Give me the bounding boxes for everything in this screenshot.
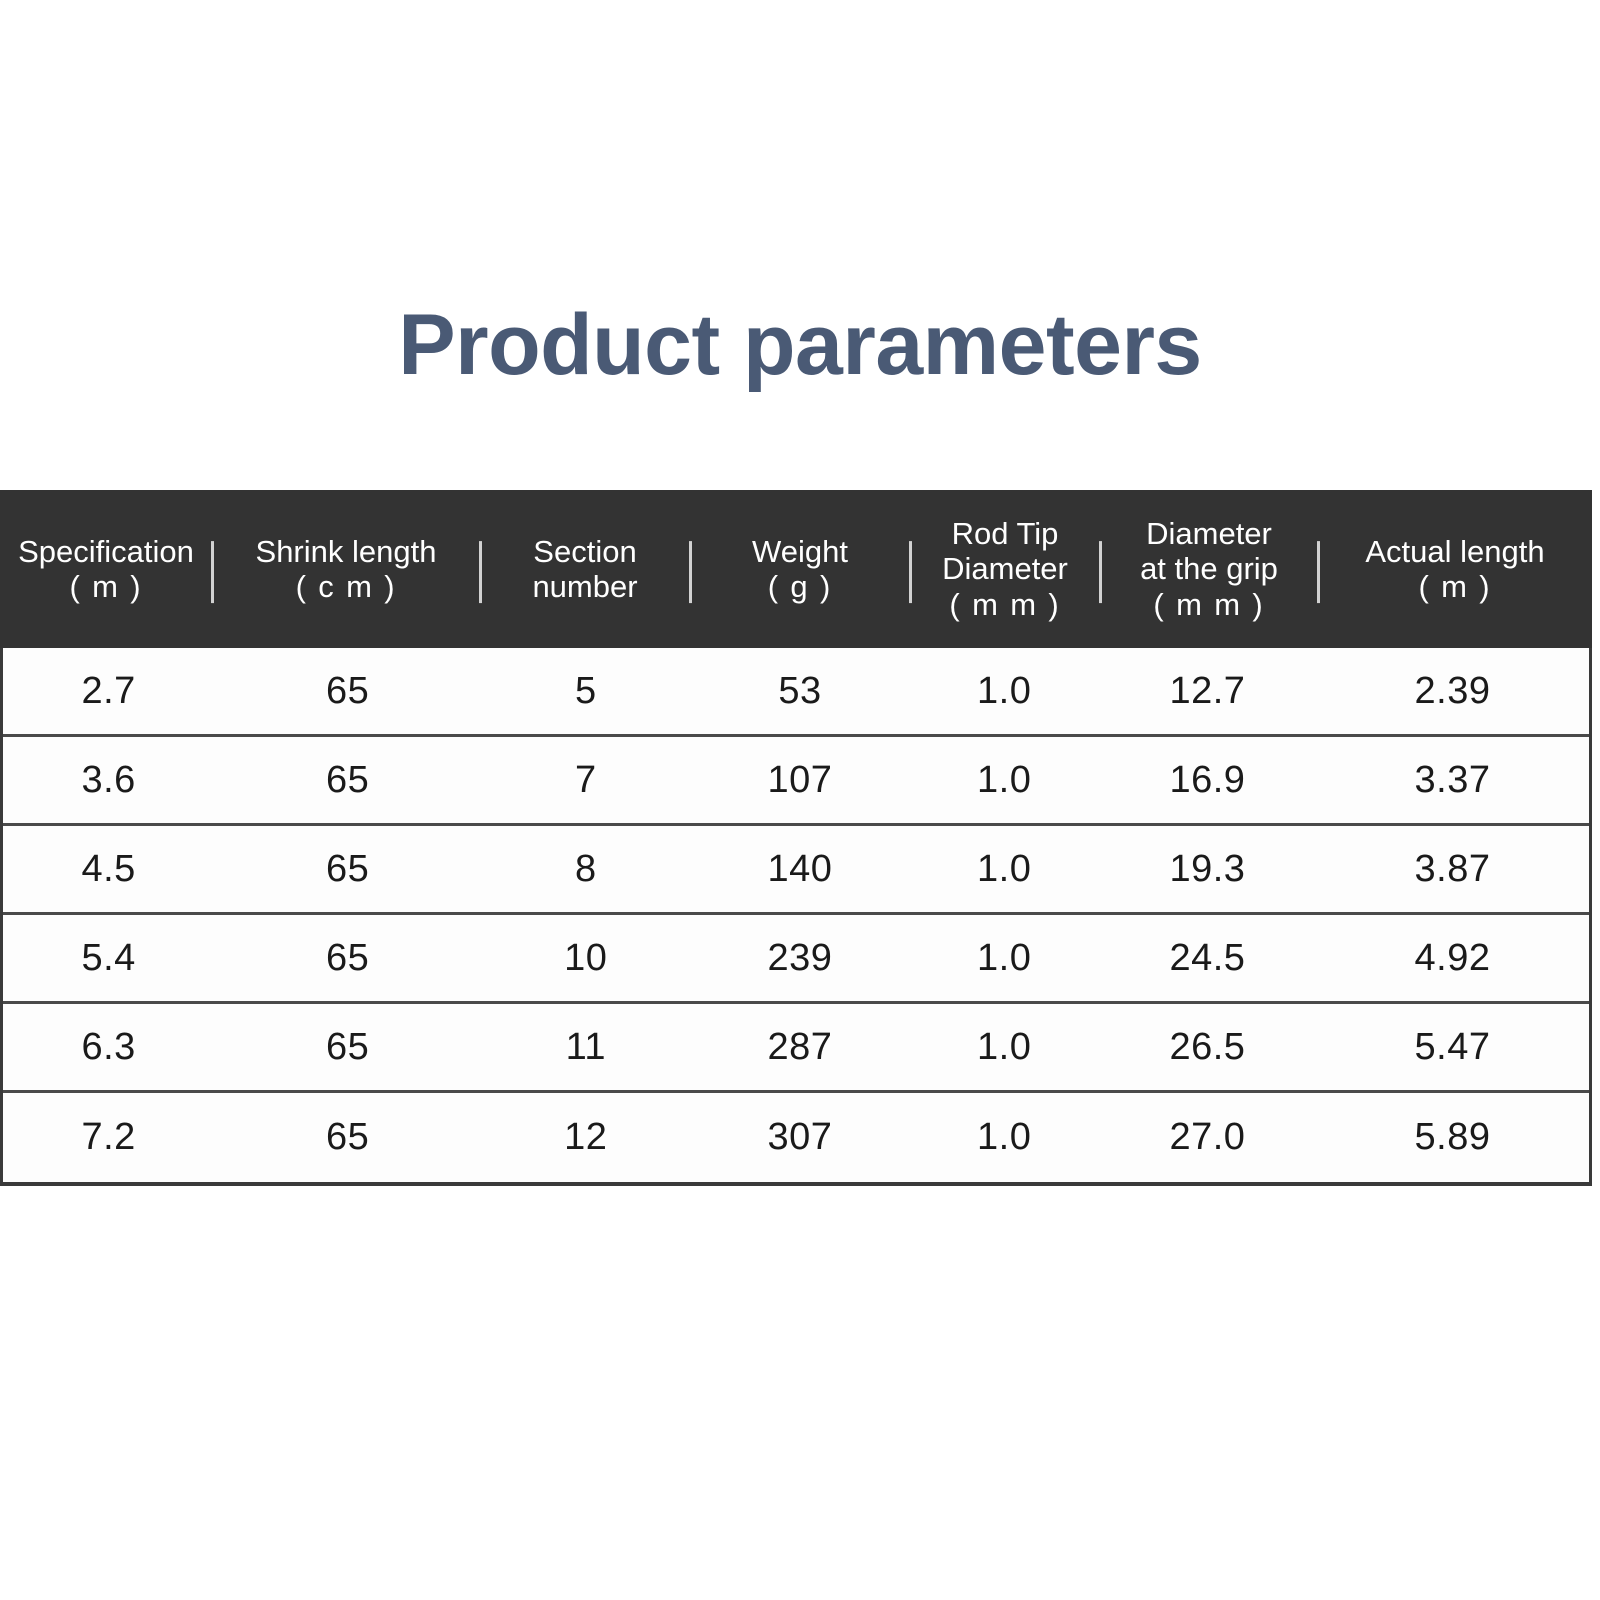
cell-rod-tip-diameter: 1.0	[910, 826, 1099, 912]
cell-section-number: 7	[481, 737, 690, 823]
product-parameters-page: Product parameters Specification ( m ) S…	[0, 0, 1600, 1600]
cell-grip-diameter: 16.9	[1099, 737, 1316, 823]
column-header-specification: Specification ( m )	[0, 490, 212, 648]
cell-weight: 307	[690, 1093, 909, 1182]
table-row: 3.6 65 7 107 1.0 16.9 3.37	[3, 737, 1589, 826]
column-header-shrink-length: Shrink length ( c m )	[212, 490, 480, 648]
table-row: 4.5 65 8 140 1.0 19.3 3.87	[3, 826, 1589, 915]
column-header-unit: ( m )	[70, 569, 143, 604]
column-header-line1: Section	[533, 534, 636, 569]
cell-weight: 53	[690, 648, 909, 734]
parameters-table: Specification ( m ) Shrink length ( c m …	[0, 490, 1592, 1186]
cell-specification: 2.7	[3, 648, 214, 734]
column-header-weight: Weight ( g )	[690, 490, 910, 648]
column-header-unit: ( c m )	[296, 569, 397, 604]
cell-grip-diameter: 12.7	[1099, 648, 1316, 734]
cell-grip-diameter: 24.5	[1099, 915, 1316, 1001]
cell-weight: 239	[690, 915, 909, 1001]
cell-actual-length: 3.37	[1316, 737, 1589, 823]
cell-actual-length: 5.47	[1316, 1004, 1589, 1090]
cell-rod-tip-diameter: 1.0	[910, 1093, 1099, 1182]
cell-weight: 287	[690, 1004, 909, 1090]
cell-rod-tip-diameter: 1.0	[910, 648, 1099, 734]
cell-section-number: 10	[481, 915, 690, 1001]
cell-shrink-length: 65	[214, 648, 481, 734]
table-body: 2.7 65 5 53 1.0 12.7 2.39 3.6 65 7 107 1…	[0, 648, 1592, 1186]
table-row: 5.4 65 10 239 1.0 24.5 4.92	[3, 915, 1589, 1004]
column-header-unit: ( g )	[768, 569, 832, 604]
table-row: 7.2 65 12 307 1.0 27.0 5.89	[3, 1093, 1589, 1182]
cell-grip-diameter: 27.0	[1099, 1093, 1316, 1182]
table-row: 2.7 65 5 53 1.0 12.7 2.39	[3, 648, 1589, 737]
column-header-line1: Specification	[18, 534, 194, 569]
column-header-line1: Weight	[752, 534, 848, 569]
column-header-section-number: Section number	[480, 490, 690, 648]
column-header-line1: Rod Tip	[952, 516, 1059, 551]
column-header-unit: ( m m )	[1153, 587, 1264, 622]
column-header-grip-diameter: Diameter at the grip ( m m )	[1100, 490, 1318, 648]
table-header-row: Specification ( m ) Shrink length ( c m …	[0, 490, 1592, 648]
cell-weight: 107	[690, 737, 909, 823]
column-header-line1: Shrink length	[256, 534, 437, 569]
column-header-line1: Diameter	[1146, 516, 1272, 551]
cell-rod-tip-diameter: 1.0	[910, 1004, 1099, 1090]
cell-specification: 4.5	[3, 826, 214, 912]
column-header-line2: Diameter	[942, 551, 1068, 586]
cell-rod-tip-diameter: 1.0	[910, 915, 1099, 1001]
cell-actual-length: 3.87	[1316, 826, 1589, 912]
cell-section-number: 12	[481, 1093, 690, 1182]
cell-actual-length: 5.89	[1316, 1093, 1589, 1182]
column-header-unit: ( m m )	[949, 587, 1060, 622]
column-header-line2: at the grip	[1140, 551, 1278, 586]
cell-shrink-length: 65	[214, 1004, 481, 1090]
cell-grip-diameter: 26.5	[1099, 1004, 1316, 1090]
cell-specification: 6.3	[3, 1004, 214, 1090]
cell-shrink-length: 65	[214, 737, 481, 823]
cell-section-number: 11	[481, 1004, 690, 1090]
column-header-line2: number	[532, 569, 637, 604]
cell-grip-diameter: 19.3	[1099, 826, 1316, 912]
cell-shrink-length: 65	[214, 915, 481, 1001]
cell-shrink-length: 65	[214, 826, 481, 912]
cell-specification: 7.2	[3, 1093, 214, 1182]
cell-shrink-length: 65	[214, 1093, 481, 1182]
cell-specification: 3.6	[3, 737, 214, 823]
cell-section-number: 5	[481, 648, 690, 734]
table-row: 6.3 65 11 287 1.0 26.5 5.47	[3, 1004, 1589, 1093]
cell-actual-length: 2.39	[1316, 648, 1589, 734]
column-header-line1: Actual length	[1365, 534, 1544, 569]
column-header-actual-length: Actual length ( m )	[1318, 490, 1592, 648]
column-header-unit: ( m )	[1419, 569, 1492, 604]
cell-rod-tip-diameter: 1.0	[910, 737, 1099, 823]
cell-actual-length: 4.92	[1316, 915, 1589, 1001]
page-title: Product parameters	[0, 300, 1600, 390]
cell-specification: 5.4	[3, 915, 214, 1001]
column-header-rod-tip-diameter: Rod Tip Diameter ( m m )	[910, 490, 1100, 648]
cell-section-number: 8	[481, 826, 690, 912]
cell-weight: 140	[690, 826, 909, 912]
